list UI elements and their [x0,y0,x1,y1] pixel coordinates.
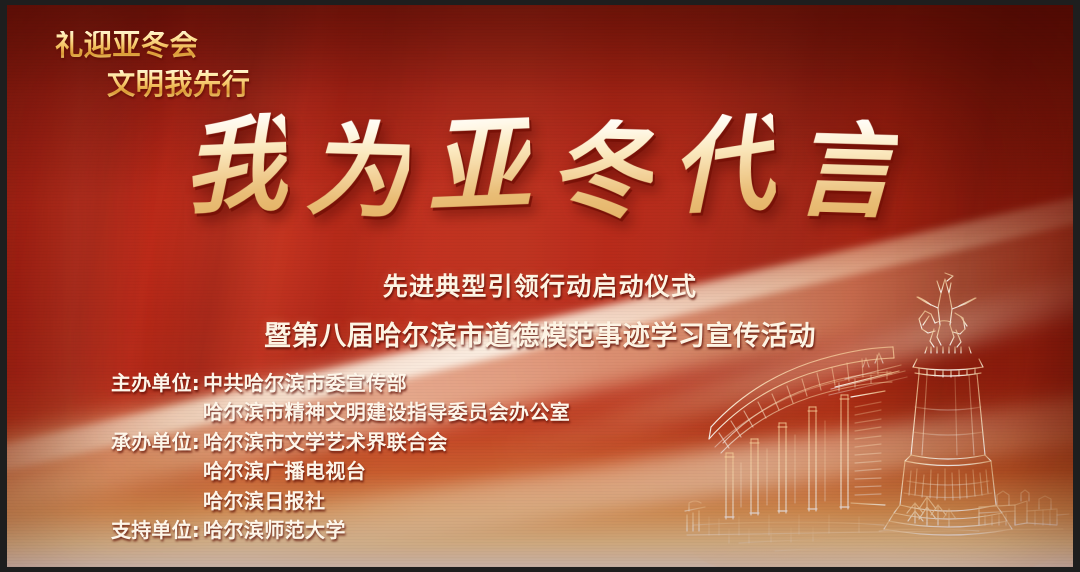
organizer-label: 主办单位: [111,371,203,395]
organizer-label: 承办单位: [111,430,203,454]
organizer-value: 哈尔滨市文学艺术界联合会 [203,430,448,454]
title-char: 为 [303,118,410,225]
organizer-row: 主办单位: 哈尔滨市精神文明建设指导委员会办公室 [111,400,570,424]
organizer-block: 主办单位: 中共哈尔滨市委宣传部 主办单位: 哈尔滨市精神文明建设指导委员会办公… [111,371,570,547]
organizer-value: 哈尔滨广播电视台 [203,459,366,483]
organizer-label: 支持单位: [111,518,203,542]
subtitle-block: 先进典型引领行动启动仪式 暨第八届哈尔滨市道德模范事迹学习宣传活动 [7,267,1073,353]
slogan-line-1: 礼迎亚冬会 [55,31,247,62]
slogan-line-2: 文明我先行 [107,70,250,101]
organizer-row: 承办单位: 哈尔滨广播电视台 [111,459,570,483]
poster-root: 礼迎亚冬会 文明我先行 我为亚冬代言 先进典型引领行动启动仪式 暨第八届哈尔滨市… [0,0,1080,572]
title-char: 代 [669,112,777,220]
title-char: 言 [792,118,899,225]
organizer-value: 哈尔滨师范大学 [203,518,346,542]
organizer-group-coorganizer: 承办单位: 哈尔滨市文学艺术界联合会 承办单位: 哈尔滨广播电视台 承办单位: … [111,430,570,513]
title-char: 我 [181,112,289,220]
organizer-group-host: 主办单位: 中共哈尔滨市委宣传部 主办单位: 哈尔滨市精神文明建设指导委员会办公… [111,371,570,425]
poster-stage: 礼迎亚冬会 文明我先行 我为亚冬代言 先进典型引领行动启动仪式 暨第八届哈尔滨市… [7,5,1073,567]
title-char: 亚 [425,112,533,220]
subtitle-line-2: 暨第八届哈尔滨市道德模范事迹学习宣传活动 [7,314,1073,353]
title-char: 冬 [548,118,655,225]
organizer-row: 承办单位: 哈尔滨市文学艺术界联合会 [111,430,570,454]
organizer-row: 主办单位: 中共哈尔滨市委宣传部 [111,371,570,395]
organizer-row: 支持单位: 哈尔滨师范大学 [111,518,570,542]
subtitle-line-1: 先进典型引领行动启动仪式 [7,267,1073,303]
organizer-value: 中共哈尔滨市委宣传部 [203,371,407,395]
organizer-value: 哈尔滨市精神文明建设指导委员会办公室 [203,400,570,424]
organizer-group-supporter: 支持单位: 哈尔滨师范大学 [111,518,570,542]
organizer-row: 承办单位: 哈尔滨日报社 [111,489,570,513]
page-title: 我为亚冬代言 [7,117,1073,221]
organizer-value: 哈尔滨日报社 [203,489,325,513]
slogan-block: 礼迎亚冬会 文明我先行 [55,31,260,100]
